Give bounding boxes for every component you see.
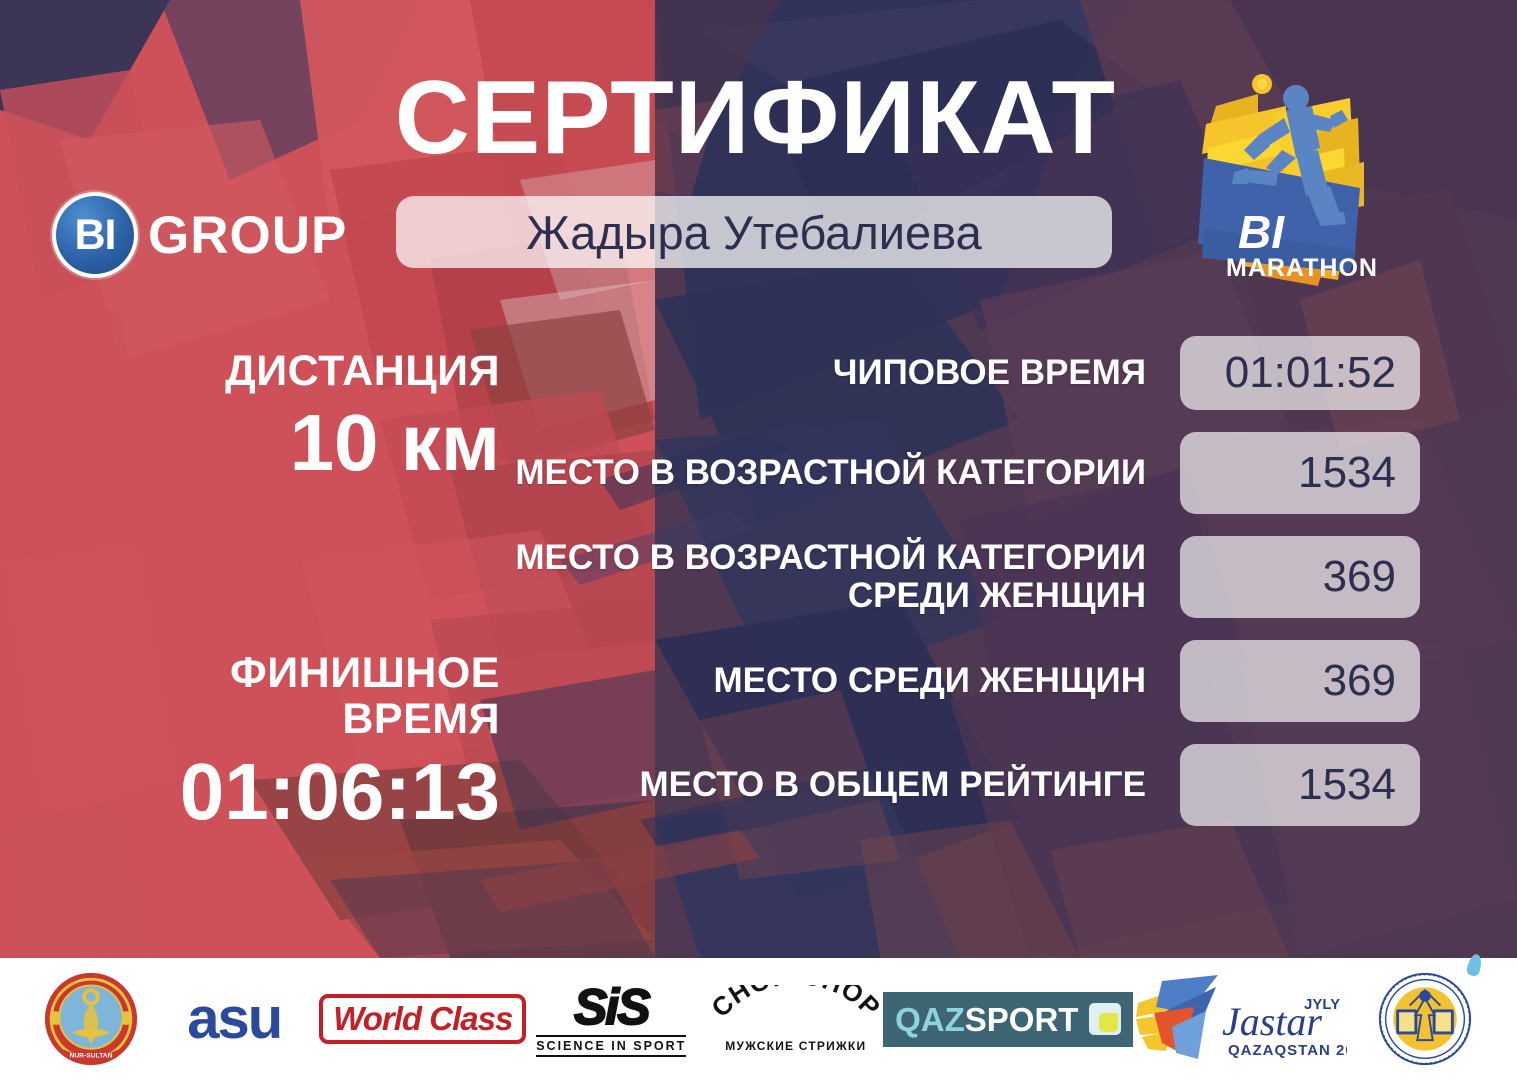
qazsport-frame: QAZSPORT <box>883 992 1133 1047</box>
participant-name-bar: Жадыра Утебалиева <box>396 196 1112 268</box>
sponsor-subcaption: SCIENCE IN SPORT <box>536 1035 686 1057</box>
bi-marathon-logo: BI MARATHON <box>1178 62 1408 307</box>
sponsor-caption-a: QAZ <box>895 1001 965 1038</box>
distance-value: 10 км <box>0 398 500 488</box>
bi-group-mark-text: BI <box>75 214 116 257</box>
stat-value: 369 <box>1323 659 1396 703</box>
stat-label: МЕСТО СРЕДИ ЖЕНЩИН <box>500 662 1180 700</box>
stat-row: МЕСТО В ВОЗРАСТНОЙ КАТЕГОРИИ СРЕДИ ЖЕНЩИ… <box>500 536 1420 618</box>
distance-label: ДИСТАНЦИЯ <box>0 348 500 394</box>
bi-group-mark-icon: BI <box>52 192 138 278</box>
marathon-logo-line2: MARATHON <box>1226 254 1378 282</box>
finish-time-label-line2: ВРЕМЯ <box>0 696 500 742</box>
participant-name: Жадыра Утебалиева <box>526 209 981 256</box>
sponsor-subcaption: QAZAQSTAN 2019 <box>1228 1042 1347 1059</box>
sponsor-caption: CHOP-CHOP <box>707 985 885 1023</box>
certificate-canvas: СЕРТИФИКАТ BI GROUP <box>0 0 1517 1080</box>
stat-value: 01:01:52 <box>1225 351 1396 395</box>
stat-row: МЕСТО В ОБЩЕМ РЕЙТИНГЕ 1534 <box>500 744 1420 826</box>
page-title: СЕРТИФИКАТ <box>0 66 1140 170</box>
stat-row: МЕСТО СРЕДИ ЖЕНЩИН 369 <box>500 640 1420 722</box>
stat-label: ЧИПОВОЕ ВРЕМЯ <box>500 354 1180 392</box>
sponsor-bar: NUR-SULTAN asu World Class SiS SCIENCE I… <box>0 958 1517 1080</box>
finish-time-value: 01:06:13 <box>0 747 500 837</box>
stat-value: 369 <box>1323 555 1396 599</box>
stat-value-pill: 369 <box>1180 536 1420 618</box>
stat-value-pill: 1534 <box>1180 744 1420 826</box>
stat-label: МЕСТО В ВОЗРАСТНОЙ КАТЕГОРИИ <box>500 454 1180 492</box>
stat-value: 1534 <box>1298 451 1396 495</box>
sponsor-caption: asu <box>187 990 281 1048</box>
stat-row: ЧИПОВОЕ ВРЕМЯ 01:01:52 <box>500 336 1420 410</box>
finish-time-label-line1: ФИНИШНОЕ <box>0 650 500 696</box>
bi-group-logo: BI GROUP <box>52 192 347 278</box>
qazsport-mark-icon <box>1089 1003 1121 1035</box>
sponsor-caption: NUR-SULTAN <box>69 1052 112 1059</box>
bi-group-wordmark: GROUP <box>148 209 347 262</box>
stat-label: МЕСТО В ОБЩЕМ РЕЙТИНГЕ <box>500 766 1180 804</box>
stat-value: 1534 <box>1298 763 1396 807</box>
sponsor-logo-qazsport: QAZSPORT <box>914 971 1102 1067</box>
svg-text:CHOP-CHOP: CHOP-CHOP <box>707 985 885 1023</box>
stat-row: МЕСТО В ВОЗРАСТНОЙ КАТЕГОРИИ 1534 <box>500 432 1420 514</box>
sponsor-caption: World Class <box>333 1002 512 1035</box>
sponsor-logo-world-class: World Class <box>330 971 516 1067</box>
stat-label: МЕСТО В ВОЗРАСТНОЙ КАТЕГОРИИ СРЕДИ ЖЕНЩИ… <box>500 539 1180 615</box>
finish-time-block: ФИНИШНОЕ ВРЕМЯ 01:06:13 <box>0 650 585 836</box>
sponsor-logo-chop-chop: CHOP-CHOP МУЖСКИЕ СТРИЖКИ <box>707 971 885 1067</box>
stat-value-pill: 369 <box>1180 640 1420 722</box>
sponsor-logo-jastar: Jastar JYLY QAZAQSTAN 2019 <box>1132 971 1347 1067</box>
sponsor-caption-b: SPORT <box>965 1001 1079 1038</box>
marathon-logo-line1: BI <box>1238 206 1285 258</box>
stat-value-pill: 01:01:52 <box>1180 336 1420 410</box>
chop-chop-arc-text: CHOP-CHOP <box>707 985 885 1037</box>
stat-value-pill: 1534 <box>1180 432 1420 514</box>
world-class-frame: World Class <box>319 994 526 1044</box>
distance-block: ДИСТАНЦИЯ 10 км <box>0 348 585 488</box>
sponsor-logo-ministry <box>1376 971 1474 1067</box>
sponsor-logo-asu: asu <box>168 971 300 1067</box>
sponsor-caption: SiS <box>574 982 649 1032</box>
results-stats-list: ЧИПОВОЕ ВРЕМЯ 01:01:52 МЕСТО В ВОЗРАСТНО… <box>500 336 1420 848</box>
sponsor-logo-nur-sultan: NUR-SULTAN <box>43 971 139 1067</box>
sponsor-logo-sis: SiS SCIENCE IN SPORT <box>545 971 677 1067</box>
sponsor-superscript: JYLY <box>1304 996 1340 1013</box>
sponsor-subcaption: МУЖСКИЕ СТРИЖКИ <box>725 1039 866 1053</box>
qazsport-wordmark: QAZSPORT <box>895 1003 1078 1036</box>
